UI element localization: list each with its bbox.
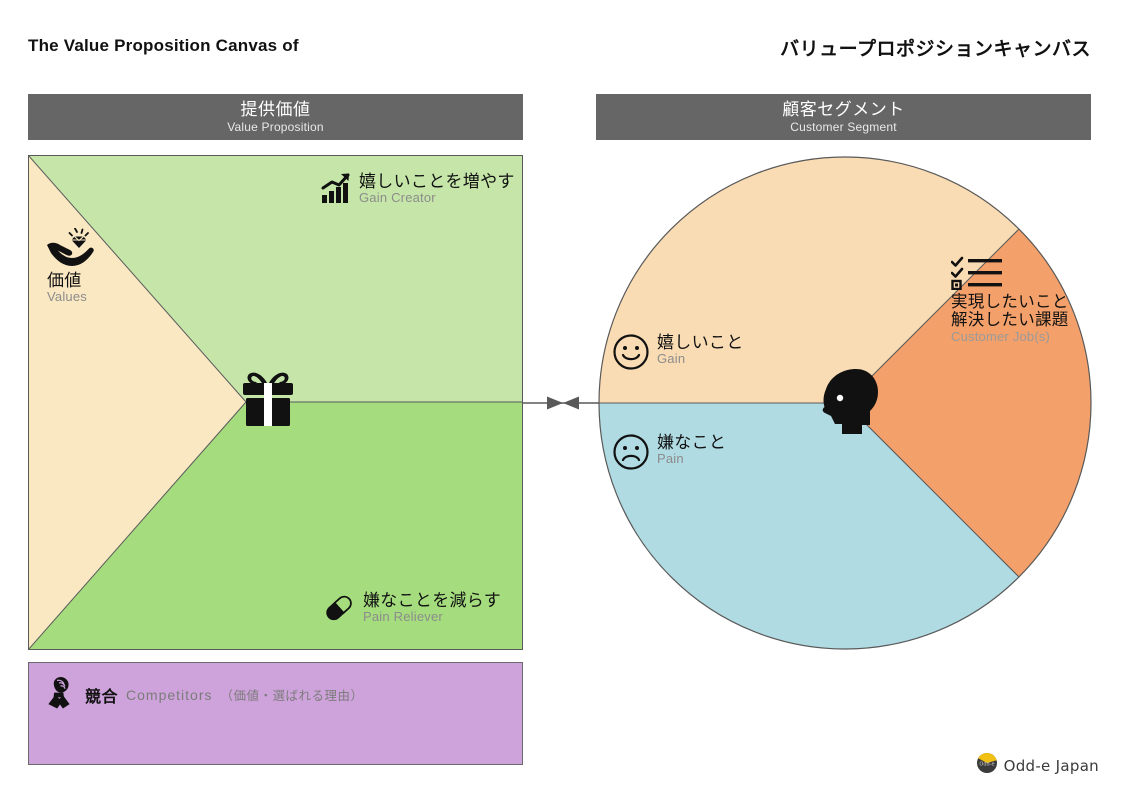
frowning-face-icon [612, 433, 650, 471]
label-values-en: Values [47, 290, 87, 305]
label-pain-reliever-en: Pain Reliever [363, 610, 501, 625]
svg-text:Odd-e: Odd-e [979, 762, 994, 768]
label-pain-reliever-jp: 嫌なことを減らす [363, 591, 501, 610]
section-header-customer-segment: 顧客セグメント Customer Segment [596, 94, 1091, 140]
bar-chart-up-icon [320, 172, 352, 204]
odd-e-japan-logo[interactable]: Odd-e Odd-e Japan [976, 752, 1099, 779]
checklist-icon [951, 256, 1003, 290]
label-pain-jp: 嫌なこと [657, 433, 726, 452]
competitors-jp: 競合 [85, 683, 118, 707]
page-title-right: バリュープロポジションキャンバス [780, 34, 1091, 61]
label-gain-en: Gain [657, 352, 744, 367]
fist-bump-icon [41, 674, 77, 715]
label-gain-creator[interactable]: 嬉しいことを増やす Gain Creator [320, 172, 515, 206]
page-title-left: The Value Proposition Canvas of [28, 36, 299, 56]
label-pain[interactable]: 嫌なこと Pain [612, 433, 726, 471]
label-customer-jobs-en: Customer Job(s) [951, 330, 1069, 345]
label-gain-jp: 嬉しいこと [657, 333, 744, 352]
gift-box-icon [239, 368, 297, 428]
label-customer-jobs-jp-line2: 解決したい課題 [951, 311, 1069, 329]
section-header-vp-jp: 提供価値 [241, 100, 311, 120]
head-silhouette-icon [820, 368, 882, 440]
competitors-panel[interactable]: 競合 Competitors （価値・選ばれる理由） [28, 662, 523, 765]
label-customer-jobs-jp-line1: 実現したいこと [951, 293, 1069, 311]
logo-text: Odd-e Japan [1004, 757, 1099, 775]
bowtie-arrow-connector [523, 390, 603, 416]
competitors-label-row: 競合 Competitors （価値・選ばれる理由） [41, 674, 364, 715]
label-gain-creator-en: Gain Creator [359, 191, 515, 206]
label-values-jp: 価値 [47, 271, 87, 290]
section-header-cs-jp: 顧客セグメント [782, 100, 905, 120]
competitors-note: （価値・選ばれる理由） [220, 685, 363, 704]
hand-diamond-icon [47, 228, 97, 268]
label-pain-reliever[interactable]: 嫌なことを減らす Pain Reliever [322, 591, 501, 625]
label-gain[interactable]: 嬉しいこと Gain [612, 333, 744, 371]
pill-icon [322, 591, 356, 625]
odd-e-circle-logo-icon: Odd-e [976, 752, 998, 779]
section-header-vp-en: Value Proposition [227, 120, 324, 135]
smiley-face-icon [612, 333, 650, 371]
label-pain-en: Pain [657, 452, 726, 467]
label-customer-jobs[interactable]: 実現したいこと 解決したい課題 Customer Job(s) [951, 256, 1069, 344]
label-gain-creator-jp: 嬉しいことを増やす [359, 172, 515, 191]
competitors-en: Competitors [126, 687, 212, 703]
label-values[interactable]: 価値 Values [47, 228, 97, 305]
section-header-value-proposition: 提供価値 Value Proposition [28, 94, 523, 140]
section-header-cs-en: Customer Segment [790, 120, 897, 135]
